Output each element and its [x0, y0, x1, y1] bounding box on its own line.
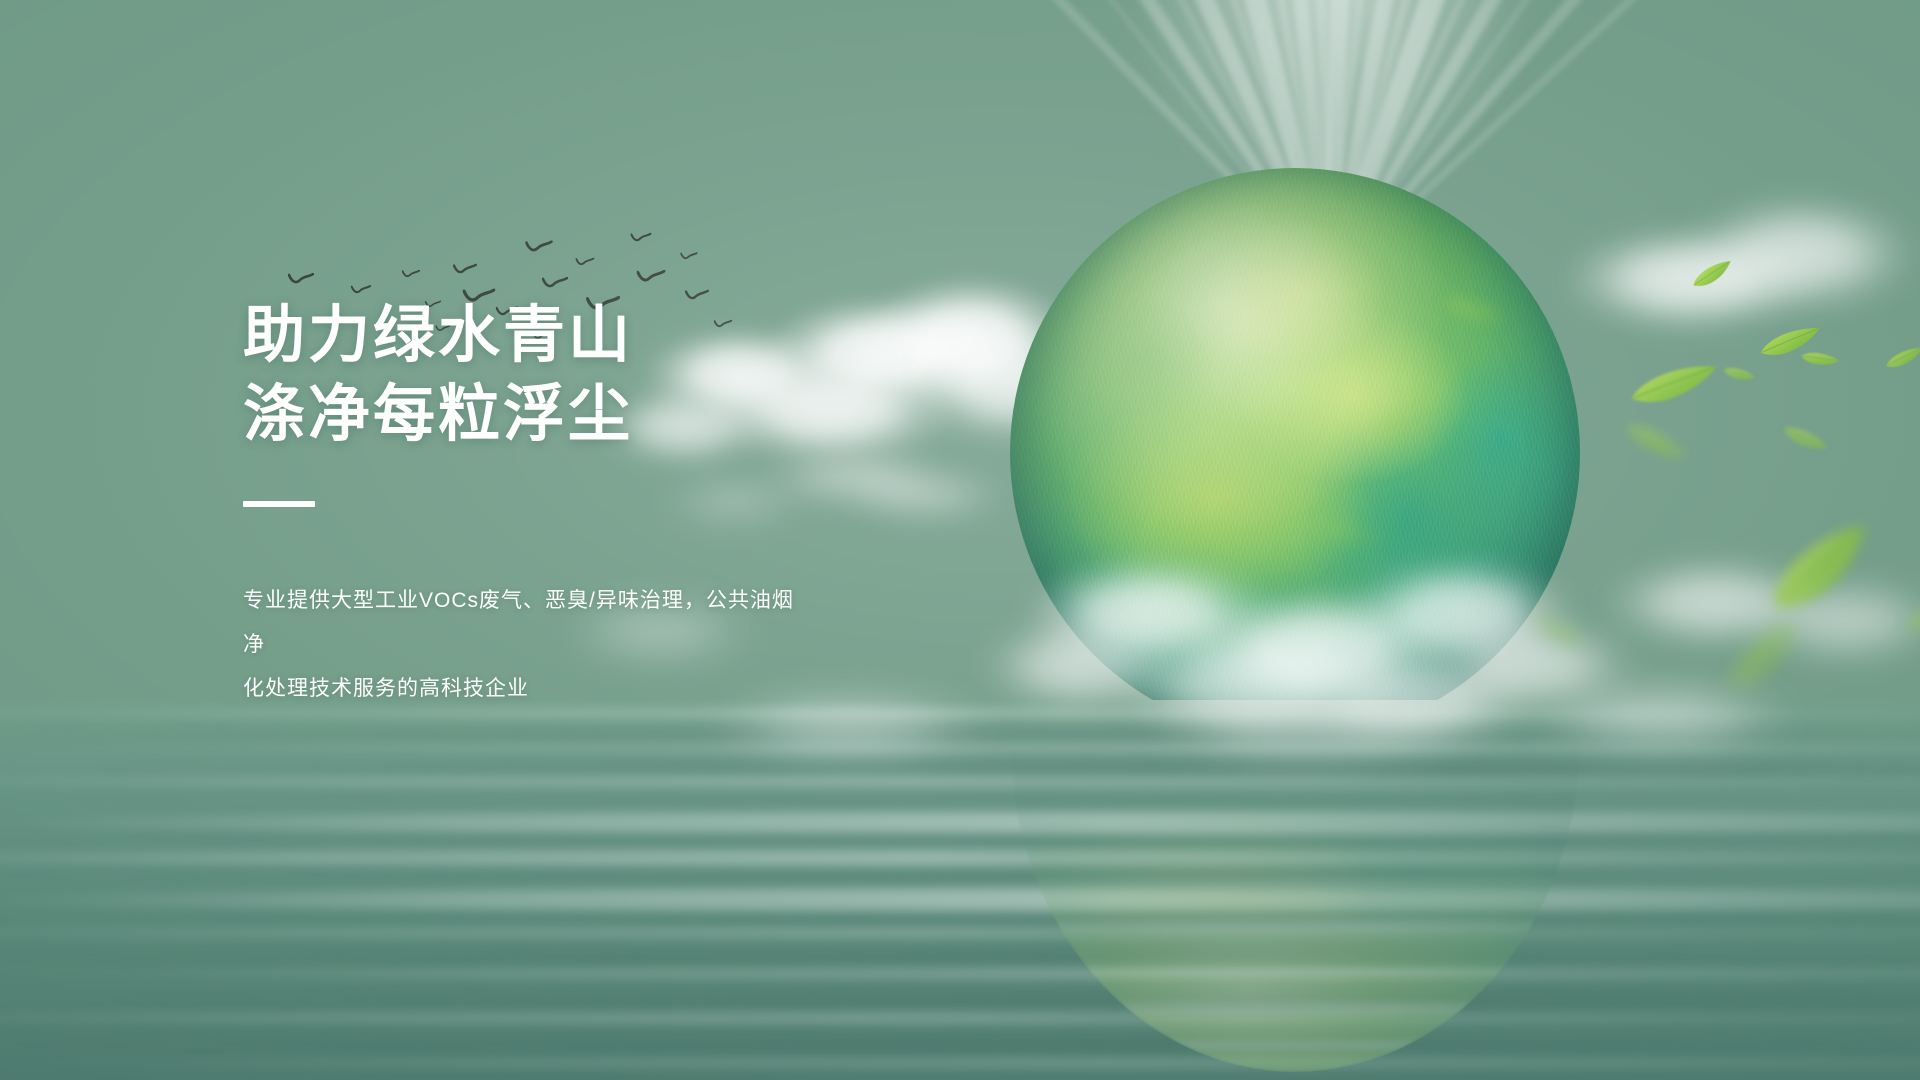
bird-icon	[525, 241, 552, 261]
cloud	[1680, 200, 1920, 320]
reflection-streak	[1010, 827, 1580, 840]
bird-icon	[402, 270, 420, 283]
water-ripple	[0, 1036, 1920, 1052]
water-ripple	[0, 1058, 1920, 1068]
page-title: 助力绿水青山 涤净每粒浮尘	[243, 296, 1003, 455]
headline-line-2: 涤净每粒浮尘	[243, 375, 1003, 454]
leaf-icon	[1625, 356, 1725, 417]
leaf-icon	[1799, 348, 1841, 372]
leaf-icon	[1688, 255, 1738, 294]
water-ripple	[0, 744, 1920, 752]
subtitle-line-1: 专业提供大型工业VOCs废气、恶臭/异味治理，公共油烟净	[243, 579, 803, 667]
water-surface	[0, 700, 1920, 1080]
water-ripple	[0, 1012, 1920, 1024]
bird-icon	[637, 270, 666, 291]
bird-icon	[453, 264, 477, 281]
cloud	[1560, 230, 1820, 340]
reflection-streak	[1010, 968, 1580, 976]
eco-hero-banner: 助力绿水青山 涤净每粒浮尘 专业提供大型工业VOCs废气、恶臭/异味治理，公共油…	[0, 0, 1920, 1080]
water-ripple	[0, 928, 1920, 938]
water-ripple	[0, 794, 1920, 803]
bird-icon	[288, 273, 314, 292]
cloud	[1740, 580, 1920, 670]
bird-icon	[542, 277, 568, 296]
leaf-icon	[1754, 509, 1891, 632]
bird-icon	[576, 258, 595, 272]
earth-globe	[1010, 168, 1580, 738]
water-ripple	[58, 758, 1920, 778]
water-ripple	[58, 990, 1920, 1010]
accent-divider	[243, 501, 315, 507]
bird-icon	[631, 233, 652, 248]
water-ripple	[0, 726, 1920, 742]
hero-subtitle: 专业提供大型工业VOCs废气、恶臭/异味治理，公共油烟净 化处理技术服务的高科技…	[243, 579, 803, 711]
water-ripple	[0, 850, 1920, 866]
water-ripple	[0, 968, 1920, 979]
hero-copy: 助力绿水青山 涤净每粒浮尘 专业提供大型工业VOCs废气、恶臭/异味治理，公共油…	[243, 296, 1003, 711]
globe-rim	[1010, 168, 1580, 738]
reflection-streak	[1010, 784, 1580, 794]
reflection-streak	[1010, 1002, 1580, 1014]
leaf-icon	[1882, 343, 1920, 374]
subtitle-line-2: 化处理技术服务的高科技企业	[243, 667, 803, 711]
reflection-streak	[1010, 877, 1580, 886]
leaf-icon	[1721, 363, 1758, 387]
water-ripple	[58, 830, 1920, 842]
reflection-streak	[1010, 918, 1580, 932]
bird-icon	[680, 252, 697, 265]
leaf-icon	[1618, 414, 1692, 475]
headline-line-1: 助力绿水青山	[243, 296, 1003, 375]
leaf-icon	[1756, 320, 1827, 365]
reflection-streak	[1010, 1041, 1580, 1050]
leaf-icon	[1902, 591, 1920, 642]
leaf-icon	[1778, 419, 1832, 460]
cloud	[1600, 560, 1830, 655]
water-ripple	[0, 948, 1920, 966]
water-ripple	[0, 776, 1920, 787]
globe-surface	[1010, 168, 1580, 738]
water-ripple	[58, 908, 1920, 921]
water-ripple	[0, 870, 1920, 879]
leaf-icon	[1716, 610, 1817, 704]
